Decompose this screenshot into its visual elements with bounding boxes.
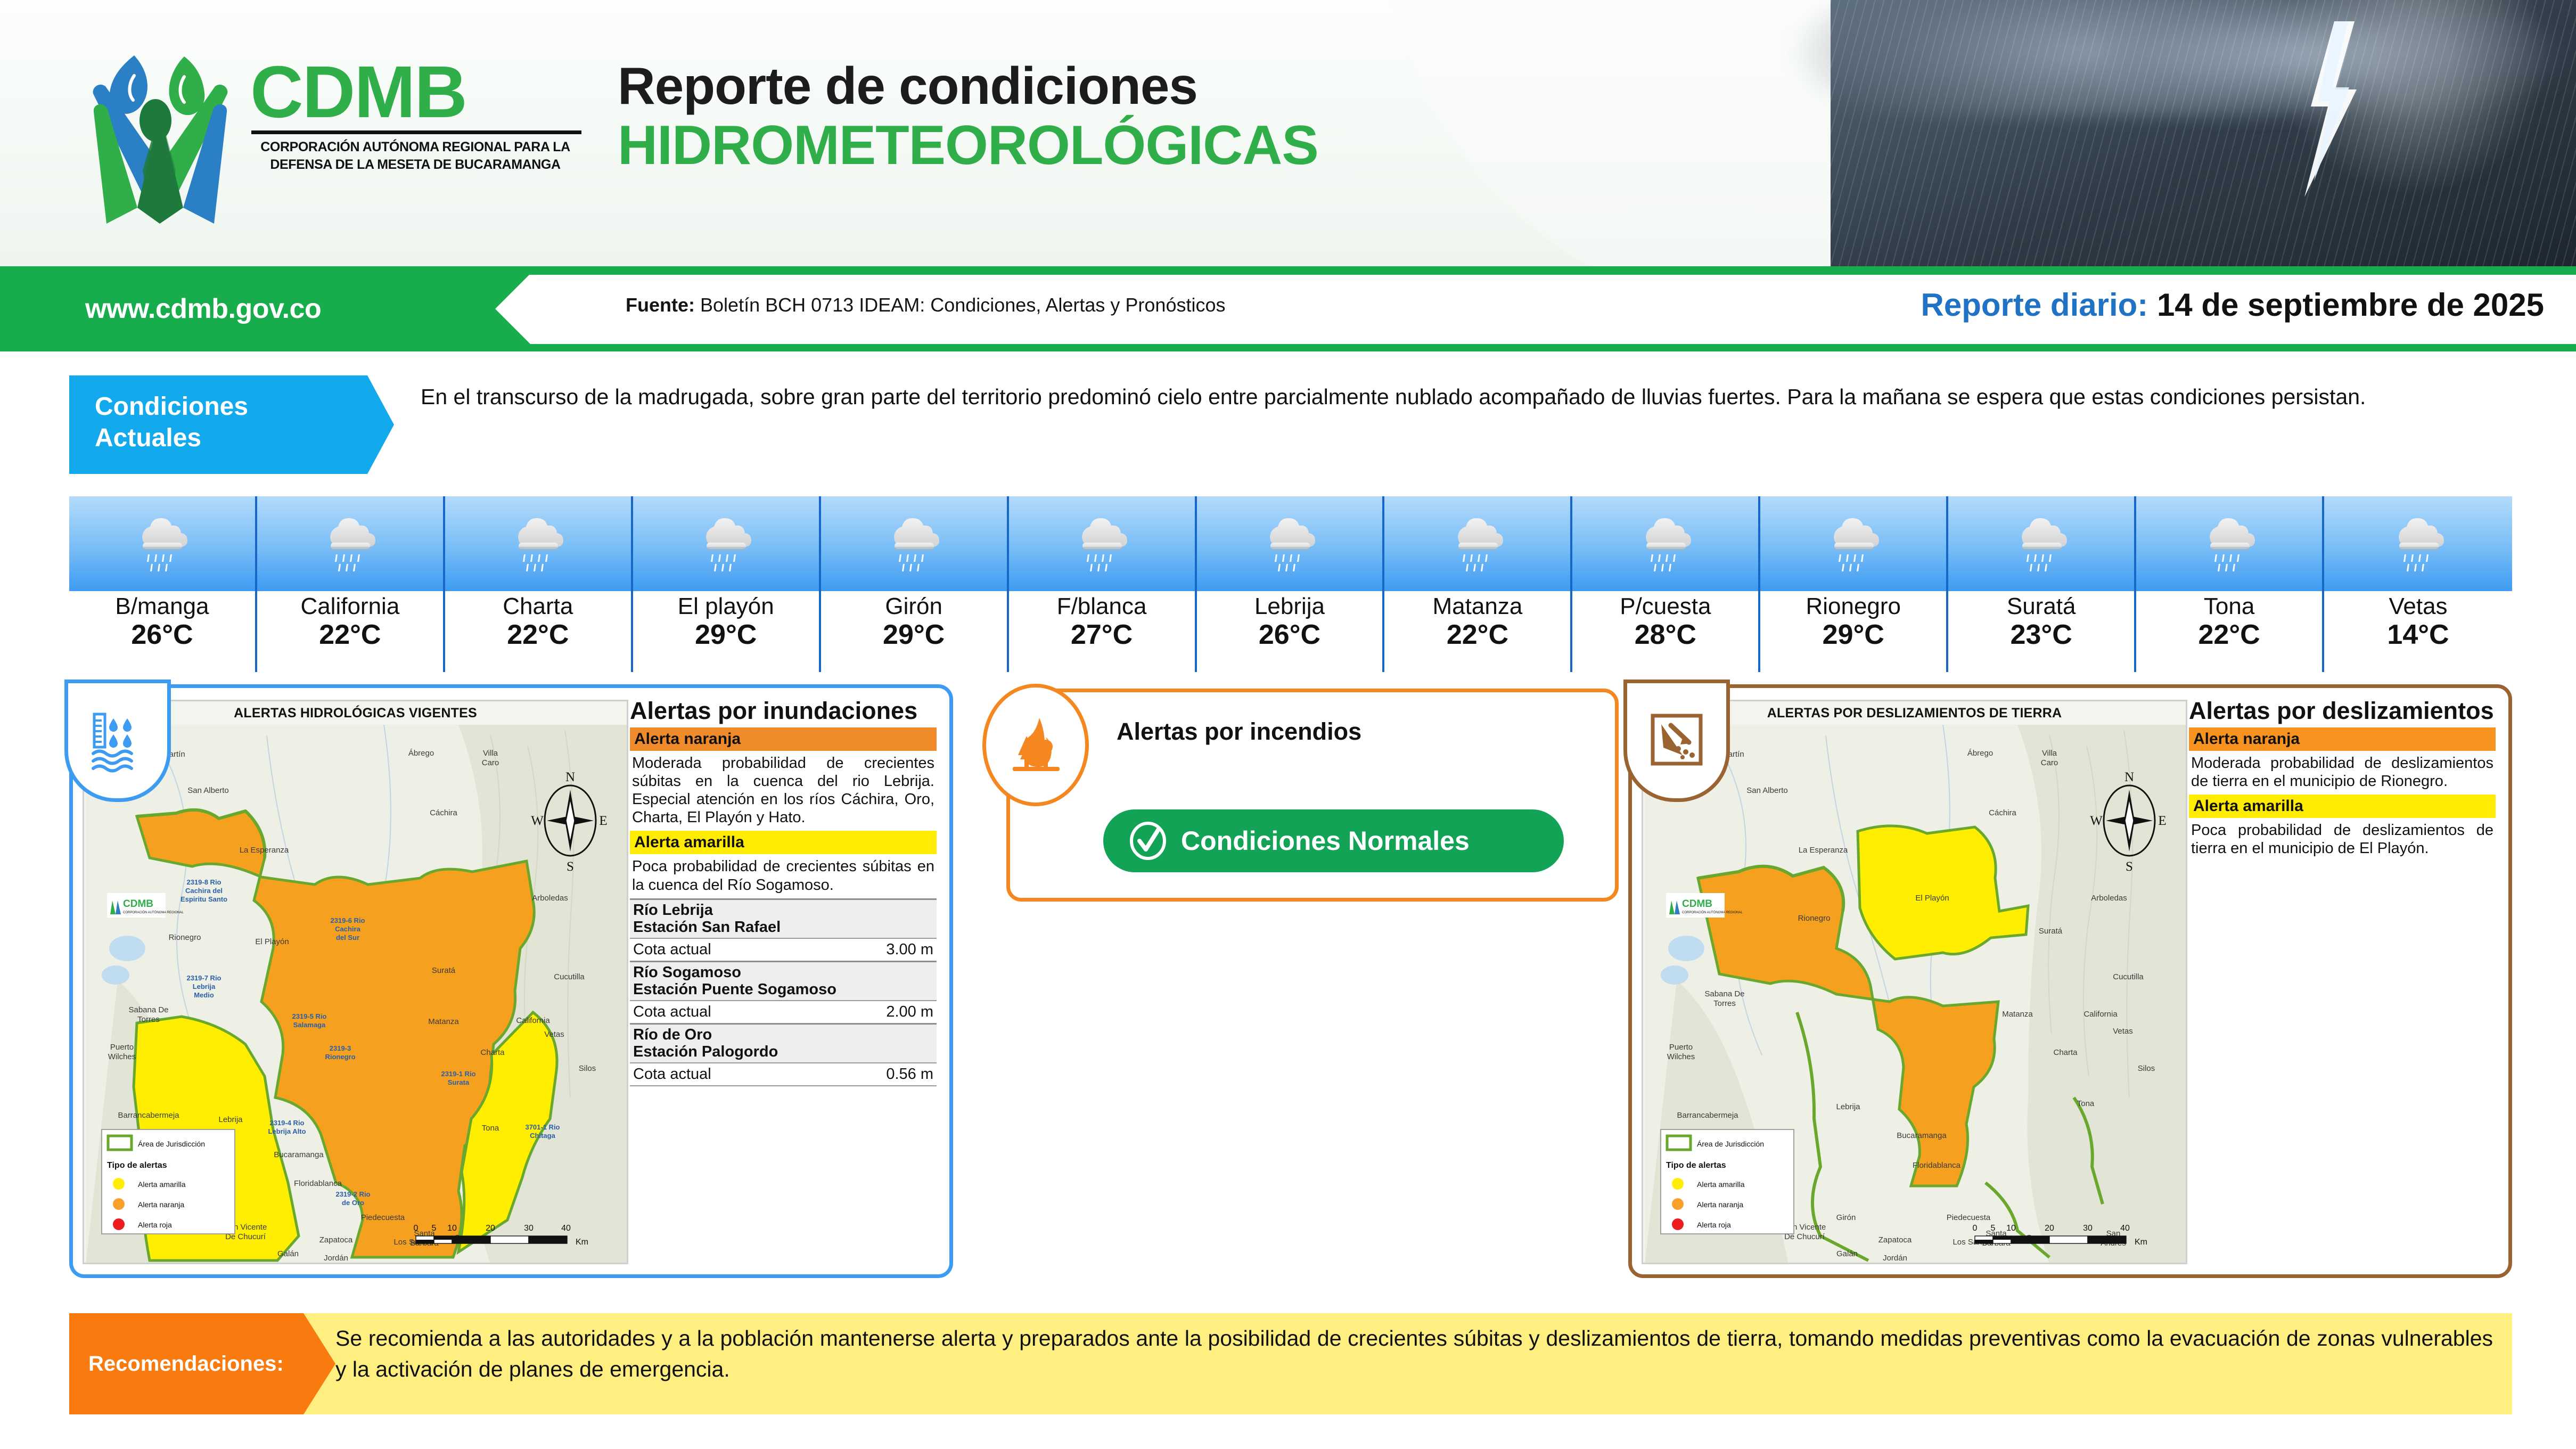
svg-text:Cachira del: Cachira del [185, 887, 223, 895]
svg-text:Lebrija Alto: Lebrija Alto [268, 1127, 306, 1135]
svg-text:Floridablanca: Floridablanca [1913, 1161, 1961, 1170]
svg-text:Rionegro: Rionegro [325, 1053, 355, 1061]
rain-cloud-icon [316, 510, 384, 578]
svg-text:N: N [2124, 770, 2134, 784]
river-metric-label: Cota actual [633, 1066, 711, 1083]
city-name: Rionegro [1806, 593, 1901, 619]
svg-text:Galán: Galán [1836, 1249, 1858, 1258]
svg-text:10: 10 [2006, 1224, 2016, 1233]
svg-text:S: S [567, 859, 574, 874]
svg-text:CORPORACIÓN AUTÓNOMA REGIONAL: CORPORACIÓN AUTÓNOMA REGIONAL [1682, 911, 1743, 914]
city-name: P/cuesta [1620, 593, 1711, 619]
svg-text:Alerta roja: Alerta roja [1697, 1221, 1731, 1229]
flood-badge [64, 680, 171, 802]
svg-text:CORPORACIÓN AUTÓNOMA REGIONAL: CORPORACIÓN AUTÓNOMA REGIONAL [123, 911, 184, 914]
svg-text:del Sur: del Sur [336, 934, 359, 942]
website-block[interactable]: www.cdmb.gov.co [0, 266, 538, 351]
svg-text:Puerto: Puerto [110, 1043, 134, 1052]
current-conditions-text: En el transcurso de la madrugada, sobre … [421, 382, 2503, 412]
svg-text:2319-1 Rio: 2319-1 Rio [441, 1070, 475, 1078]
svg-text:0: 0 [414, 1224, 419, 1233]
green-rule-bottom [0, 344, 2576, 351]
city-weather-icon-area [1760, 496, 1948, 591]
svg-text:Cucutilla: Cucutilla [2113, 972, 2144, 981]
svg-text:Galán: Galán [277, 1249, 299, 1258]
landslide-icon [1645, 709, 1708, 772]
svg-text:Cucutilla: Cucutilla [554, 972, 585, 981]
city-temperature: 22°C [507, 619, 569, 651]
source-text: Boletín BCH 0713 IDEAM: Condiciones, Ale… [700, 294, 1225, 316]
recommendations-text: Se recomienda a las autoridades y a la p… [335, 1323, 2493, 1385]
river-measurement-row: Cota actual2.00 m [630, 1000, 937, 1023]
fire-panel-heading: Alertas por incendios [1117, 718, 1361, 746]
landslide-alerts-card: ALERTAS POR DESLIZAMIENTOS DE TIERRA [1628, 684, 2512, 1278]
city-temperature-strip: B/manga26°C California22°C [69, 496, 2512, 672]
river-station: Estación Puente Sogamoso [633, 981, 933, 998]
city-temperature: 29°C [1823, 619, 1884, 651]
current-conditions-tag: Condiciones Actuales [69, 375, 394, 474]
svg-text:Km: Km [576, 1238, 588, 1247]
city-temperature: 22°C [1447, 619, 1508, 651]
fire-alerts-card: Alertas por incendios Condiciones Normal… [1006, 689, 1619, 902]
svg-text:Puerto: Puerto [1669, 1043, 1693, 1052]
svg-text:Cáchira: Cáchira [430, 808, 457, 817]
svg-text:10: 10 [447, 1224, 457, 1233]
city-temperature: 22°C [319, 619, 381, 651]
storm-photo [1831, 0, 2576, 266]
svg-text:Silos: Silos [579, 1064, 596, 1073]
report-date-label: Reporte diario: [1921, 287, 2148, 323]
svg-text:Jordán: Jordán [324, 1254, 348, 1263]
svg-text:Área de Jurisdicción: Área de Jurisdicción [1697, 1140, 1764, 1148]
rain-streaks-icon [1831, 0, 2576, 266]
city-card: Matanza22°C [1384, 496, 1572, 672]
river-metric-label: Cota actual [633, 1003, 711, 1021]
city-name: B/manga [115, 593, 209, 619]
fire-status-label: Condiciones Normales [1181, 825, 1470, 856]
city-name: Girón [885, 593, 942, 619]
svg-text:Lebrija: Lebrija [193, 983, 216, 990]
fire-status-badge[interactable]: Condiciones Normales [1103, 809, 1564, 872]
svg-text:2319-4 Rio: 2319-4 Rio [269, 1119, 304, 1127]
svg-text:2319-6 Rio: 2319-6 Rio [330, 916, 365, 924]
landslide-map-canvas: San Martín San Alberto Ábrego VillaCaro … [1645, 725, 2187, 1264]
svg-text:California: California [2083, 1010, 2118, 1019]
city-card: California22°C [257, 496, 445, 672]
alert-description: Poca probabilidad de deslizamientos de t… [2189, 818, 2496, 862]
svg-text:S: S [2126, 859, 2133, 874]
city-name: El playón [678, 593, 774, 619]
landslide-badge [1623, 680, 1730, 802]
city-temperature: 23°C [2011, 619, 2072, 651]
river-header: Río de OroEstación Palogordo [630, 1025, 937, 1062]
city-temperature: 26°C [131, 619, 193, 651]
alert-level-bar: Alerta amarilla [2189, 795, 2496, 818]
svg-text:Alerta naranja: Alerta naranja [138, 1200, 184, 1209]
svg-text:30: 30 [2083, 1224, 2093, 1233]
city-temperature: 29°C [883, 619, 945, 651]
river-name: Río de Oro [633, 1026, 933, 1043]
report-date-value: 14 de septiembre de 2025 [2157, 287, 2544, 323]
svg-text:2319-3: 2319-3 [330, 1044, 351, 1052]
city-card: B/manga26°C [69, 496, 257, 672]
river-header: Río LebrijaEstación San Rafael [630, 900, 937, 938]
svg-text:Charta: Charta [2053, 1048, 2078, 1057]
svg-text:20: 20 [2045, 1224, 2054, 1233]
report-date-line: Reporte diario: 14 de septiembre de 2025 [1921, 286, 2544, 323]
city-label-area: Charta22°C [445, 591, 633, 672]
svg-text:5: 5 [432, 1224, 437, 1233]
svg-text:Área de Jurisdicción: Área de Jurisdicción [138, 1140, 205, 1148]
svg-text:W: W [531, 814, 544, 828]
current-conditions-tag-line2: Actuales [95, 423, 394, 454]
svg-text:Barrancabermeja: Barrancabermeja [1677, 1111, 1738, 1120]
city-label-area: El playón29°C [633, 591, 821, 672]
rain-cloud-icon [504, 510, 572, 578]
city-weather-icon-area [445, 496, 633, 591]
landslide-alert-details: Alertas por deslizamientos Alerta naranj… [2186, 698, 2499, 1270]
source-label: Fuente: [626, 294, 695, 316]
recommendations-tag-label: Recomendaciones: [88, 1352, 284, 1376]
flood-alert-list: Alerta naranjaModerada probabilidad de c… [630, 727, 937, 898]
svg-text:N: N [565, 770, 575, 784]
recommendations-body: Se recomienda a las autoridades y a la p… [303, 1313, 2512, 1414]
city-card: F/blanca27°C [1009, 496, 1197, 672]
svg-text:Alerta amarilla: Alerta amarilla [138, 1180, 186, 1189]
svg-text:0: 0 [1973, 1224, 1978, 1233]
svg-text:Zapatoca: Zapatoca [1878, 1235, 1912, 1245]
recommendations-tag: Recomendaciones: [69, 1313, 335, 1414]
water-level-gauge-icon [86, 709, 150, 773]
landslide-map-legend: Área de Jurisdicción Tipo de alertas Ale… [1661, 1129, 1794, 1234]
city-card: Tona22°C [2136, 496, 2324, 672]
svg-text:Medio: Medio [194, 991, 214, 999]
flood-map-legend: Área de Jurisdicción Tipo de alertas Ale… [102, 1129, 235, 1234]
rain-cloud-icon [2007, 510, 2075, 578]
city-name: Lebrija [1254, 593, 1325, 619]
svg-text:Silos: Silos [2138, 1064, 2155, 1073]
rain-cloud-icon [1819, 510, 1888, 578]
svg-text:2319-7 Rio: 2319-7 Rio [186, 974, 221, 982]
svg-text:Piedecuesta: Piedecuesta [1947, 1213, 1991, 1222]
city-card: Vetas14°C [2324, 496, 2512, 672]
svg-text:Vetas: Vetas [544, 1030, 564, 1039]
alert-description: Moderada probabilidad de deslizamientos … [2189, 751, 2496, 795]
city-label-area: Vetas14°C [2324, 591, 2512, 672]
landslide-map[interactable]: ALERTAS POR DESLIZAMIENTOS DE TIERRA [1642, 700, 2187, 1264]
river-metric-value: 0.56 m [886, 1066, 933, 1083]
city-weather-icon-area [1009, 496, 1197, 591]
svg-text:Km: Km [2135, 1238, 2147, 1247]
rain-cloud-icon [1443, 510, 1512, 578]
city-label-area: F/blanca27°C [1009, 591, 1197, 672]
river-measurement-row: Cota actual0.56 m [630, 1062, 937, 1086]
svg-text:Tona: Tona [2077, 1099, 2095, 1108]
rain-cloud-icon [2384, 510, 2452, 578]
river-level-block: Río de OroEstación PalogordoCota actual0… [630, 1023, 937, 1086]
svg-text:Alerta roja: Alerta roja [138, 1221, 172, 1229]
svg-text:El Playón: El Playón [1915, 894, 1949, 903]
svg-text:CDMB: CDMB [1682, 898, 1712, 910]
city-weather-icon-area [633, 496, 821, 591]
svg-text:2319-2 Rio: 2319-2 Rio [335, 1190, 370, 1198]
city-temperature: 27°C [1071, 619, 1133, 651]
svg-text:Bucaramanga: Bucaramanga [1897, 1131, 1947, 1140]
city-label-area: B/manga26°C [69, 591, 257, 672]
svg-text:Sabana De: Sabana De [1704, 989, 1744, 998]
rain-cloud-icon [692, 510, 760, 578]
svg-text:Ábrego: Ábrego [1967, 749, 1993, 758]
svg-text:Salamaga: Salamaga [293, 1021, 326, 1029]
landslide-panel-heading: Alertas por deslizamientos [2189, 698, 2496, 724]
river-station: Estación Palogordo [633, 1043, 933, 1060]
city-label-area: Girón29°C [821, 591, 1009, 672]
flood-alert-details: Alertas por inundaciones Alerta naranjaM… [627, 698, 940, 1270]
svg-text:de Oro: de Oro [342, 1199, 364, 1207]
river-metric-label: Cota actual [633, 941, 711, 959]
svg-text:CDMB: CDMB [123, 898, 153, 910]
city-name: F/blanca [1057, 593, 1147, 619]
svg-text:Bucaramanga: Bucaramanga [274, 1150, 324, 1159]
alert-description: Moderada probabilidad de crecientes súbi… [630, 751, 937, 831]
city-weather-icon-area [69, 496, 257, 591]
info-bar: www.cdmb.gov.co Fuente: Boletín BCH 0713… [0, 266, 2576, 351]
svg-text:Cachira: Cachira [335, 925, 360, 933]
svg-text:Girón: Girón [1836, 1213, 1856, 1222]
city-weather-icon-area [1572, 496, 1760, 591]
city-card: Girón29°C [821, 496, 1009, 672]
svg-text:3701-1 Rio: 3701-1 Rio [525, 1123, 560, 1131]
svg-text:San Alberto: San Alberto [187, 786, 229, 795]
landslide-alert-list: Alerta naranjaModerada probabilidad de d… [2189, 727, 2496, 862]
river-measurement-row: Cota actual3.00 m [630, 938, 937, 961]
rain-cloud-icon [880, 510, 948, 578]
rain-cloud-icon [128, 510, 196, 578]
svg-text:Tipo de alertas: Tipo de alertas [1666, 1161, 1726, 1170]
svg-text:San Alberto: San Alberto [1746, 786, 1788, 795]
svg-text:2319-8 Rio: 2319-8 Rio [186, 878, 221, 886]
title-line-2: HIDROMETEOROLÓGICAS [618, 117, 1318, 175]
svg-text:Suratá: Suratá [432, 966, 456, 975]
city-label-area: P/cuesta28°C [1572, 591, 1760, 672]
river-level-block: Río LebrijaEstación San RafaelCota actua… [630, 898, 937, 961]
fire-badge [982, 684, 1089, 806]
svg-text:Arboledas: Arboledas [2091, 894, 2127, 903]
rain-cloud-icon [1256, 510, 1324, 578]
svg-text:Jordán: Jordán [1883, 1254, 1907, 1263]
svg-text:E: E [2158, 814, 2166, 828]
flood-map-canvas: San Martín San Alberto Ábrego VillaCaro … [86, 725, 628, 1264]
svg-text:Floridablanca: Floridablanca [294, 1179, 342, 1188]
page-title: Reporte de condiciones HIDROMETEOROLÓGIC… [618, 59, 1318, 175]
svg-text:Matanza: Matanza [428, 1017, 459, 1026]
svg-text:Lebrija: Lebrija [1836, 1102, 1860, 1111]
alert-level-bar: Alerta naranja [2189, 727, 2496, 751]
svg-text:Caro: Caro [2041, 758, 2058, 767]
svg-text:California: California [516, 1016, 550, 1025]
city-temperature: 22°C [2198, 619, 2260, 651]
city-label-area: Tona22°C [2136, 591, 2324, 672]
city-name: Matanza [1433, 593, 1523, 619]
flood-map[interactable]: ALERTAS HIDROLÓGICAS VIGENTES [83, 700, 628, 1264]
svg-text:Ábrego: Ábrego [408, 749, 434, 758]
rain-cloud-icon [2195, 510, 2263, 578]
river-metric-value: 2.00 m [886, 1003, 933, 1021]
svg-text:5: 5 [1991, 1224, 1996, 1233]
svg-text:Villa: Villa [2042, 749, 2057, 758]
city-card: Charta22°C [445, 496, 633, 672]
river-metric-value: 3.00 m [886, 941, 933, 959]
svg-text:Arboledas: Arboledas [532, 894, 568, 903]
svg-text:Torres: Torres [137, 1015, 160, 1024]
recommendations-section: Se recomienda a las autoridades y a la p… [69, 1313, 2512, 1414]
city-weather-icon-area [2324, 496, 2512, 591]
river-header: Río SogamosoEstación Puente Sogamoso [630, 962, 937, 1000]
city-name: Tona [2204, 593, 2254, 619]
city-card: El playón29°C [633, 496, 821, 672]
alert-description: Poca probabilidad de crecientes súbitas … [630, 854, 937, 898]
city-name: Vetas [2389, 593, 2447, 619]
svg-text:La Esperanza: La Esperanza [240, 846, 289, 855]
svg-text:Charta: Charta [480, 1048, 505, 1057]
city-weather-icon-area [1384, 496, 1572, 591]
svg-text:40: 40 [2120, 1224, 2130, 1233]
city-weather-icon-area [1197, 496, 1385, 591]
city-temperature: 26°C [1259, 619, 1320, 651]
svg-text:Wilches: Wilches [108, 1052, 136, 1061]
svg-text:El Playón: El Playón [255, 937, 289, 946]
svg-text:E: E [599, 814, 607, 828]
svg-text:30: 30 [524, 1224, 534, 1233]
svg-text:Rionegro: Rionegro [1798, 914, 1831, 923]
river-station: Estación San Rafael [633, 919, 933, 936]
svg-text:40: 40 [561, 1224, 571, 1233]
city-temperature: 29°C [695, 619, 757, 651]
svg-text:Sabana De: Sabana De [128, 1005, 168, 1014]
city-weather-icon-area [257, 496, 445, 591]
lightning-bolt-icon [2293, 21, 2367, 197]
logo-subtitle-line2: DEFENSA DE LA MESETA DE BUCARAMANGA [250, 156, 580, 174]
page-header: CDMB CORPORACIÓN AUTÓNOMA REGIONAL PARA … [0, 0, 2576, 266]
svg-text:Zapatoca: Zapatoca [319, 1235, 353, 1245]
flood-river-levels: Río LebrijaEstación San RafaelCota actua… [630, 898, 937, 1086]
city-temperature: 14°C [2387, 619, 2449, 651]
city-weather-icon-area [1948, 496, 2136, 591]
svg-text:La Esperanza: La Esperanza [1799, 846, 1848, 855]
svg-text:Lebrija: Lebrija [218, 1115, 243, 1124]
city-label-area: Suratá23°C [1948, 591, 2136, 672]
svg-text:Barrancabermeja: Barrancabermeja [118, 1111, 179, 1120]
city-label-area: Lebrija26°C [1197, 591, 1385, 672]
alert-level-bar: Alerta naranja [630, 727, 937, 751]
svg-text:Vetas: Vetas [2113, 1027, 2133, 1036]
svg-text:Surata: Surata [448, 1078, 470, 1086]
source-line: Fuente: Boletín BCH 0713 IDEAM: Condicio… [626, 294, 1225, 316]
svg-text:Caro: Caro [482, 758, 499, 767]
cdmb-logo-mark-icon [75, 48, 245, 224]
cdmb-logo: CDMB CORPORACIÓN AUTÓNOMA REGIONAL PARA … [75, 48, 618, 224]
city-card: Suratá23°C [1948, 496, 2136, 672]
svg-text:Tona: Tona [482, 1124, 499, 1133]
svg-text:Villa: Villa [483, 749, 498, 758]
city-label-area: Matanza22°C [1384, 591, 1572, 672]
river-name: Río Lebrija [633, 902, 933, 919]
svg-text:Matanza: Matanza [2002, 1010, 2033, 1019]
svg-text:Suratá: Suratá [2039, 927, 2063, 936]
city-name: California [300, 593, 399, 619]
city-temperature: 28°C [1635, 619, 1696, 651]
svg-text:Espiritu Santo: Espiritu Santo [181, 895, 227, 903]
forest-fire-icon [1004, 714, 1067, 776]
logo-subtitle-line1: CORPORACIÓN AUTÓNOMA REGIONAL PARA LA [250, 138, 580, 156]
svg-text:Piedecuesta: Piedecuesta [361, 1213, 405, 1222]
current-conditions-tag-line1: Condiciones [95, 391, 394, 423]
svg-text:Chitaga: Chitaga [530, 1132, 555, 1140]
svg-text:2319-5 Rio: 2319-5 Rio [292, 1012, 326, 1020]
svg-text:Torres: Torres [1713, 999, 1736, 1008]
city-weather-icon-area [2136, 496, 2324, 591]
river-level-block: Río SogamosoEstación Puente SogamosoCota… [630, 961, 937, 1023]
website-url[interactable]: www.cdmb.gov.co [85, 293, 321, 325]
svg-text:20: 20 [486, 1224, 495, 1233]
city-name: Suratá [2007, 593, 2076, 619]
rain-cloud-icon [1068, 510, 1136, 578]
flood-panel-heading: Alertas por inundaciones [630, 698, 937, 724]
svg-text:Wilches: Wilches [1667, 1052, 1695, 1061]
logo-wordmark: CDMB [250, 58, 581, 127]
city-card: P/cuesta28°C [1572, 496, 1760, 672]
current-conditions-section: Condiciones Actuales En el transcurso de… [69, 375, 2512, 474]
svg-text:Tipo de alertas: Tipo de alertas [107, 1161, 167, 1170]
river-name: Río Sogamoso [633, 964, 933, 981]
svg-text:Rionegro: Rionegro [169, 933, 201, 942]
city-label-area: California22°C [257, 591, 445, 672]
check-circle-icon [1127, 820, 1169, 862]
svg-text:W: W [2090, 814, 2103, 828]
svg-text:Alerta amarilla: Alerta amarilla [1697, 1180, 1745, 1189]
rain-cloud-icon [1631, 510, 1700, 578]
city-card: Rionegro29°C [1760, 496, 1948, 672]
svg-text:Alerta naranja: Alerta naranja [1697, 1200, 1743, 1209]
alert-panels-row: ALERTAS HIDROLÓGICAS VIGENTES [69, 684, 2512, 1286]
svg-text:Cáchira: Cáchira [1989, 808, 2016, 817]
city-label-area: Rionegro29°C [1760, 591, 1948, 672]
city-card: Lebrija26°C [1197, 496, 1385, 672]
city-weather-icon-area [821, 496, 1009, 591]
flood-alerts-card: ALERTAS HIDROLÓGICAS VIGENTES [69, 684, 953, 1278]
city-name: Charta [503, 593, 573, 619]
alert-level-bar: Alerta amarilla [630, 831, 937, 854]
title-line-1: Reporte de condiciones [618, 59, 1318, 113]
